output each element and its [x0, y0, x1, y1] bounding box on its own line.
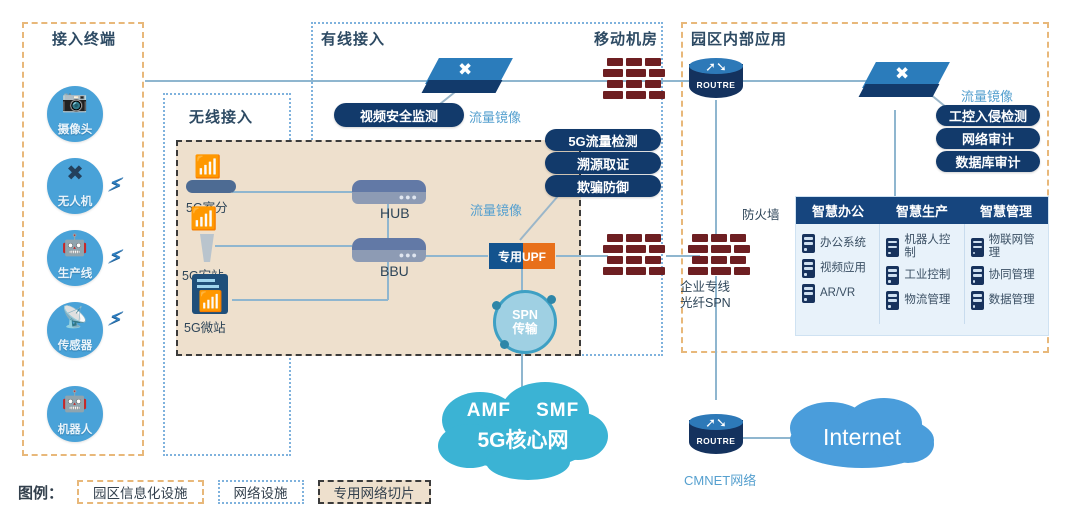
server-icon [971, 266, 984, 285]
device-switch-campus[interactable]: ✖ [869, 62, 949, 102]
micro-cell-bars [197, 279, 215, 282]
spn-line1: SPN [512, 308, 538, 322]
sensor-icon: 📡 [47, 307, 103, 329]
spn-node-icon [500, 340, 509, 349]
legend-item-campus-it: 园区信息化设施 [77, 480, 204, 504]
pill-deception-defense[interactable]: 欺骗防御 [545, 175, 661, 197]
server-icon [802, 284, 815, 303]
robot-icon: 🤖 [47, 391, 103, 413]
app-item[interactable]: 工业控制 [886, 266, 959, 285]
app-item[interactable]: AR/VR [802, 284, 875, 303]
pill-database-audit[interactable]: 数据库审计 [936, 151, 1040, 172]
terminal-production-line[interactable]: 🤖 生产线 [47, 230, 103, 286]
pill-trace-forensics[interactable]: 溯源取证 [545, 152, 661, 174]
app-item[interactable]: 办公系统 [802, 234, 875, 253]
router-cmnet[interactable]: ➚➘ ROUTRE [689, 414, 743, 460]
app-item-label: 物流管理 [904, 294, 950, 307]
app-item[interactable]: 物流管理 [886, 291, 959, 310]
server-icon [886, 238, 899, 257]
camera-icon: 📷 [47, 91, 103, 113]
server-icon [802, 259, 815, 278]
zone-campus-apps-title: 园区内部应用 [691, 28, 787, 49]
app-item-label: 工业控制 [904, 269, 950, 282]
terminal-label: 摄像头 [58, 121, 93, 137]
firewall-mid [607, 234, 665, 278]
server-icon [971, 291, 984, 310]
terminal-label: 无人机 [58, 193, 93, 209]
terminal-camera[interactable]: 📷 摄像头 [47, 86, 103, 142]
app-column-management: 物联网管理 协同管理 数据管理 [964, 224, 1048, 324]
terminal-label: 传感器 [58, 337, 93, 353]
production-line-icon: 🤖 [47, 235, 103, 257]
terminal-sensor[interactable]: 📡 传感器 [47, 302, 103, 358]
micro-cell-bars [197, 285, 219, 288]
terminal-robot[interactable]: 🤖 机器人 [47, 386, 103, 442]
zone-mobile-room-title: 移动机房 [594, 28, 658, 49]
pill-5g-flow-detection[interactable]: 5G流量检测 [545, 129, 661, 151]
amf-label: AMF [467, 400, 511, 421]
app-column-office: 办公系统 视频应用 AR/VR [796, 224, 879, 324]
spn-label: SPN 传输 [512, 308, 538, 336]
caption-mirror-right: 流量镜像 [961, 86, 1013, 105]
app-item-label: 办公系统 [820, 237, 866, 250]
pill-ics-intrusion-detection[interactable]: 工控入侵检测 [936, 105, 1040, 126]
router-label: ROUTRE [689, 80, 743, 90]
switch-cross-icon: ✖ [458, 60, 472, 80]
router-body [186, 180, 236, 193]
legend-item-network-facility: 网络设施 [218, 480, 304, 504]
firewall-enterprise [692, 234, 750, 278]
wifi-signal-icon: 📶 [194, 154, 221, 180]
zone-access-terminal-title: 接入终端 [52, 28, 116, 49]
firewall-top [607, 58, 665, 102]
application-panel: 智慧办公 智慧生产 智慧管理 办公系统 视频应用 AR/VR [795, 196, 1049, 336]
device-switch-wired[interactable]: ✖ [432, 58, 512, 98]
caption-cmnet: CMNET网络 [684, 470, 756, 489]
legend-title: 图例： [18, 482, 63, 503]
device-upf[interactable]: 专用UPF [489, 243, 555, 269]
bbu-label: BBU [380, 263, 409, 279]
app-item[interactable]: 协同管理 [971, 266, 1044, 285]
wifi-signal-icon: 📶 [198, 289, 223, 314]
caption-mirror-top: 流量镜像 [469, 107, 521, 126]
wireless-device-label: 5G微站 [184, 317, 226, 336]
app-column-header: 智慧生产 [880, 197, 964, 224]
diagram-canvas: 接入终端 有线接入 移动机房 无线接入 园区内部应用 [0, 0, 1080, 525]
server-icon [886, 291, 899, 310]
router-arrows-icon: ➚➘ [689, 58, 743, 76]
internet-label: Internet [800, 424, 924, 451]
pill-network-audit[interactable]: 网络审计 [936, 128, 1040, 149]
wifi-signal-icon: 📶 [190, 206, 217, 232]
router-arrows-icon: ➚➘ [689, 414, 743, 432]
hub-led-icon: ●●● [399, 192, 418, 202]
smf-label: SMF [536, 400, 579, 421]
app-item-label: 数据管理 [989, 294, 1035, 307]
terminal-label: 机器人 [58, 421, 93, 437]
spn-line2: 传输 [512, 322, 537, 336]
server-icon [886, 266, 899, 285]
app-item-label: 协同管理 [989, 269, 1035, 282]
caption-mirror-mid: 流量镜像 [470, 200, 522, 219]
caption-firewall: 防火墙 [742, 204, 780, 223]
switch-front-face [859, 84, 940, 97]
app-item[interactable]: 数据管理 [971, 291, 1044, 310]
app-column-production: 机器人控制 工业控制 物流管理 [879, 224, 963, 324]
legend: 图例： 园区信息化设施 网络设施 专用网络切片 [18, 476, 578, 508]
cloud-core-name: 5G核心网 [452, 424, 594, 454]
app-item[interactable]: 视频应用 [802, 259, 875, 278]
cloud-5g-core: AMF SMF 5G核心网 [452, 400, 594, 454]
router-campus[interactable]: ➚➘ ROUTRE [689, 58, 743, 104]
device-spn[interactable]: SPN 传输 [493, 290, 557, 354]
application-columns: 办公系统 视频应用 AR/VR 机器人控制 工业控制 [796, 224, 1048, 324]
device-hub[interactable]: ●●● [352, 180, 426, 204]
spn-node-icon [547, 295, 556, 304]
cloud-internet: Internet [800, 424, 924, 451]
bbu-led-icon: ●●● [399, 250, 418, 260]
app-item-label: 视频应用 [820, 262, 866, 275]
spn-node-icon [492, 301, 501, 310]
zone-wireless-access-title: 无线接入 [189, 106, 253, 127]
device-bbu[interactable]: ●●● [352, 238, 426, 262]
terminal-drone[interactable]: ✖ 无人机 [47, 158, 103, 214]
router-label: ROUTRE [689, 436, 743, 446]
cloud-core-nf-row: AMF SMF [452, 400, 594, 422]
switch-cross-icon: ✖ [895, 64, 909, 84]
switch-front-face [422, 80, 503, 93]
terminal-label: 生产线 [58, 265, 93, 281]
app-item-label: AR/VR [820, 287, 855, 300]
drone-icon: ✖ [47, 163, 103, 185]
app-column-header: 智慧管理 [964, 197, 1048, 224]
app-item[interactable]: 机器人控制 [886, 234, 959, 260]
legend-item-network-slice: 专用网络切片 [318, 480, 431, 504]
server-icon [802, 234, 815, 253]
app-column-header: 智慧办公 [796, 197, 880, 224]
upf-label: 专用UPF [489, 243, 555, 269]
app-item[interactable]: 物联网管理 [971, 234, 1044, 260]
zone-wired-access-title: 有线接入 [321, 28, 385, 49]
caption-enterprise-line-2: 光纤SPN [680, 292, 731, 311]
application-panel-header: 智慧办公 智慧生产 智慧管理 [796, 197, 1048, 224]
app-item-label: 机器人控制 [904, 234, 959, 260]
pill-video-security[interactable]: 视频安全监测 [334, 103, 464, 127]
server-icon [971, 238, 984, 257]
app-item-label: 物联网管理 [989, 234, 1044, 260]
hub-label: HUB [380, 205, 410, 221]
